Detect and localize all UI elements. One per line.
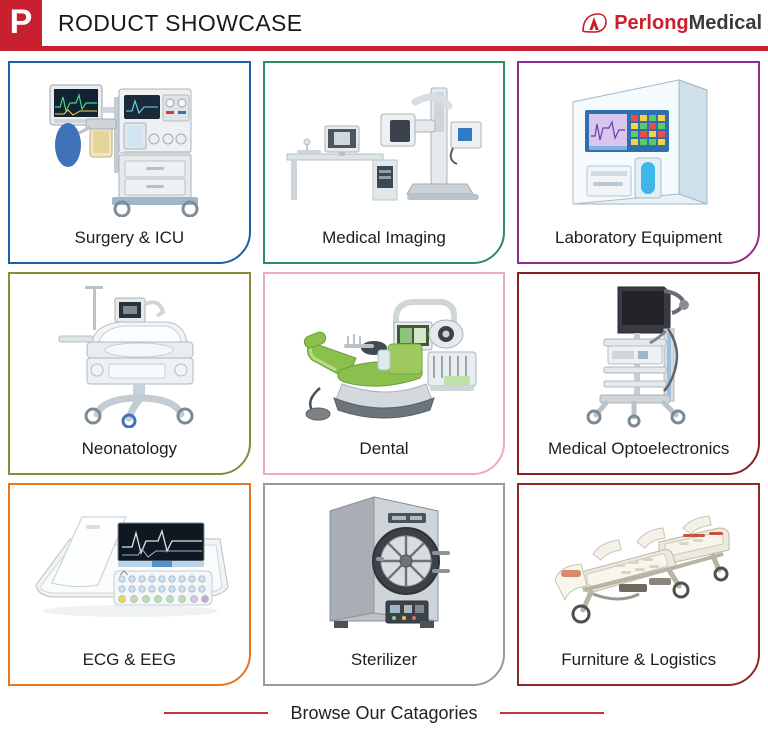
card-figure (265, 485, 504, 642)
category-label: Sterilizer (265, 642, 504, 684)
hospital-bed-image (533, 498, 745, 630)
category-card-surgery-icu[interactable]: Surgery & ICU (8, 61, 251, 264)
page-header: P RODUCT SHOWCASE PerlongMedical (0, 0, 768, 46)
product-badge-letter: P (0, 0, 42, 46)
card-figure (10, 274, 249, 431)
brand-name-secondary: Medical (689, 12, 762, 34)
card-figure (519, 274, 758, 431)
brand-logo: PerlongMedical (581, 12, 768, 35)
category-card-dental[interactable]: Dental (263, 272, 506, 475)
hematology-analyzer-image (559, 66, 719, 218)
page-title: RODUCT SHOWCASE (42, 10, 303, 37)
category-grid: Surgery & ICU (0, 51, 768, 686)
browse-categories-label[interactable]: Browse Our Catagories (290, 703, 477, 724)
autoclave-sterilizer-image (314, 489, 454, 639)
category-label: ECG & EEG (10, 642, 249, 684)
footer-rule-left (164, 712, 268, 714)
category-label: Medical Imaging (265, 220, 504, 262)
footer-rule-right (500, 712, 604, 714)
card-figure (265, 63, 504, 220)
anesthesia-machine-image (24, 67, 234, 217)
category-label: Furniture & Logistics (519, 642, 758, 684)
brand-name: PerlongMedical (614, 12, 762, 35)
category-label: Neonatology (10, 431, 249, 473)
card-figure (519, 63, 758, 220)
card-figure (519, 485, 758, 642)
category-label: Medical Optoelectronics (519, 431, 758, 473)
category-card-neonatology[interactable]: Neonatology (8, 272, 251, 475)
ecg-machine-image (26, 499, 232, 629)
category-card-medical-imaging[interactable]: Medical Imaging (263, 61, 506, 264)
category-card-sterilizer[interactable]: Sterilizer (263, 483, 506, 686)
category-card-ecg-eeg[interactable]: ECG & EEG (8, 483, 251, 686)
perlong-a-logo-icon (581, 12, 607, 34)
category-label: Surgery & ICU (10, 220, 249, 262)
card-figure (265, 274, 504, 431)
digital-radiography-system-image (277, 72, 491, 212)
card-figure (10, 63, 249, 220)
category-card-furniture-logistics[interactable]: Furniture & Logistics (517, 483, 760, 686)
footer: Browse Our Catagories (0, 690, 768, 736)
card-figure (10, 485, 249, 642)
category-card-laboratory-equipment[interactable]: Laboratory Equipment (517, 61, 760, 264)
category-label: Dental (265, 431, 504, 473)
brand-name-primary: Perlong (614, 12, 688, 34)
endoscopy-tower-image (564, 277, 714, 429)
dental-chair-unit-image (278, 278, 490, 428)
category-card-medical-optoelectronics[interactable]: Medical Optoelectronics (517, 272, 760, 475)
category-label: Laboratory Equipment (519, 220, 758, 262)
infant-incubator-image (29, 278, 229, 428)
